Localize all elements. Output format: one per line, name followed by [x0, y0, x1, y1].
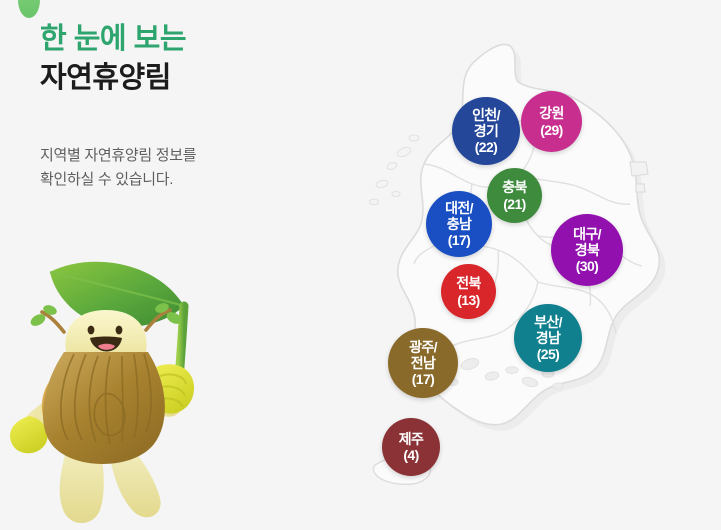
page-title-line1: 한 눈에 보는: [40, 20, 340, 59]
region-count: (29): [540, 122, 563, 138]
west-islands: [369, 135, 419, 205]
region-label: 충북: [502, 179, 527, 195]
region-label: 광주/: [409, 339, 437, 355]
region-label: 강원: [539, 105, 564, 121]
intro-panel: 한 눈에 보는 자연휴양림 지역별 자연휴양림 정보를 확인하실 수 있습니다.: [0, 0, 360, 530]
region-count: (4): [403, 447, 418, 463]
page-title: 한 눈에 보는 자연휴양림: [40, 20, 340, 98]
region-label: 전남: [411, 355, 436, 371]
ulleungdo-island: [630, 162, 648, 176]
forest-mascot-character: [8, 248, 238, 530]
region-bubble-gangwon[interactable]: 강원(29): [521, 91, 582, 152]
region-count: (13): [457, 292, 480, 308]
region-label: 인천/: [472, 107, 500, 123]
region-label: 대구/: [573, 226, 601, 242]
region-count: (30): [576, 258, 599, 274]
region-count: (17): [412, 371, 435, 387]
region-bubble-daejeon-chungnam[interactable]: 대전/충남(17): [426, 191, 492, 257]
region-label: 경기: [474, 123, 499, 139]
region-label: 경북: [575, 242, 600, 258]
page-title-line2: 자연휴양림: [40, 59, 340, 98]
region-label: 경남: [536, 330, 561, 346]
mascot-eye-left: [88, 326, 95, 335]
region-bubble-gwangju-jeonnam[interactable]: 광주/전남(17): [388, 328, 458, 398]
region-bubble-chungbuk[interactable]: 충북(21): [487, 168, 542, 223]
region-bubble-jeju[interactable]: 제주(4): [382, 418, 440, 476]
leaf-icon: [18, 0, 40, 18]
mascot-eye-right: [116, 326, 123, 335]
page-subtitle-line2: 확인하실 수 있습니다.: [40, 168, 330, 192]
region-bubble-busan-gyeongnam[interactable]: 부산/경남(25): [514, 304, 582, 372]
region-bubble-daegu-gyeongbuk[interactable]: 대구/경북(30): [551, 214, 623, 286]
mascot-body: [43, 352, 165, 464]
region-bubble-jeonbuk[interactable]: 전북(13): [441, 264, 496, 319]
region-label: 부산/: [534, 314, 562, 330]
page-root: 한 눈에 보는 자연휴양림 지역별 자연휴양림 정보를 확인하실 수 있습니다.: [0, 0, 721, 530]
page-subtitle-line1: 지역별 자연휴양림 정보를: [40, 144, 330, 168]
region-bubble-incheon-gyeonggi[interactable]: 인천/경기(22): [452, 97, 520, 165]
page-subtitle: 지역별 자연휴양림 정보를 확인하실 수 있습니다.: [40, 144, 330, 193]
region-count: (17): [448, 232, 471, 248]
region-count: (22): [475, 139, 498, 155]
dokdo-island: [636, 184, 645, 192]
region-count: (21): [503, 196, 526, 212]
region-label: 전북: [456, 275, 481, 291]
region-count: (25): [537, 346, 560, 362]
region-label: 제주: [399, 431, 424, 447]
region-label: 대전/: [445, 200, 473, 216]
region-label: 충남: [447, 216, 472, 232]
